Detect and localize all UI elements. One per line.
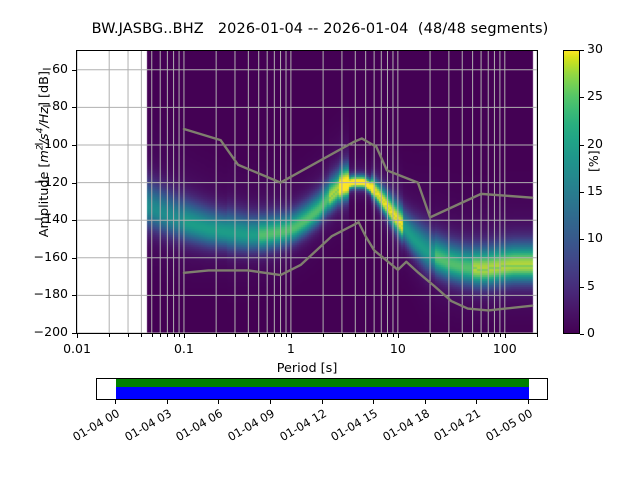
y-axis-tick-mark: [72, 333, 76, 334]
colorbar-tick-mark: [580, 334, 584, 335]
x-axis-minor-tick-mark: [462, 334, 463, 337]
colorbar-tick-mark: [580, 145, 584, 146]
x-axis-minor-tick-mark: [248, 334, 249, 337]
x-axis-minor-tick-mark: [494, 334, 495, 337]
y-axis-tick-label: −180: [0, 286, 68, 301]
coverage-band-green: [116, 379, 529, 387]
timeline-tick-mark: [373, 400, 374, 404]
x-axis-minor-tick-mark: [342, 334, 343, 337]
timeline-tick-label: 01-04 06: [168, 406, 225, 447]
x-axis-tick-label: 10: [358, 341, 438, 356]
timeline-tick-label: 01-04 18: [375, 406, 432, 447]
noise-model-nlnm: [184, 222, 532, 310]
y-axis-tick-label: −140: [0, 211, 68, 226]
coverage-band-blue: [116, 387, 529, 399]
colorbar-tick-label: 5: [587, 278, 595, 293]
y-axis-tick-label: −80: [0, 98, 68, 113]
timeline-tick-mark: [528, 400, 529, 404]
colorbar-tick-label: 25: [587, 88, 603, 103]
timeline-tick-label: 01-05 00: [478, 406, 535, 447]
data-coverage-timeline[interactable]: [96, 378, 548, 400]
y-axis-tick-mark: [72, 145, 76, 146]
y-axis-tick-mark: [72, 107, 76, 108]
x-axis-minor-tick-mark: [488, 334, 489, 337]
ppsd-figure: BW.JASBG..BHZ 2026-01-04 -- 2026-01-04 (…: [0, 0, 640, 480]
x-axis-minor-tick-mark: [281, 334, 282, 337]
noise-model-nhnm: [184, 129, 532, 217]
y-axis-tick-label: −120: [0, 174, 68, 189]
x-axis-label: Period [s]: [76, 361, 538, 376]
x-axis-tick-label: 0.01: [37, 341, 117, 356]
x-axis-tick-mark: [505, 334, 506, 338]
colorbar[interactable]: [563, 50, 580, 334]
y-axis-tick-mark: [72, 295, 76, 296]
colorbar-tick-label: 0: [587, 325, 595, 340]
x-axis-minor-tick-mark: [381, 334, 382, 337]
x-axis-minor-tick-mark: [274, 334, 275, 337]
y-axis-tick-label: −200: [0, 324, 68, 339]
y-axis-tick-mark: [72, 183, 76, 184]
timeline-tick-mark: [322, 400, 323, 404]
x-axis-minor-tick-mark: [160, 334, 161, 337]
x-axis-minor-tick-mark: [109, 334, 110, 337]
x-axis-minor-tick-mark: [235, 334, 236, 337]
x-axis-minor-tick-mark: [216, 334, 217, 337]
x-axis-minor-tick-mark: [355, 334, 356, 337]
colorbar-label: [%]: [586, 132, 601, 172]
x-axis-minor-tick-mark: [473, 334, 474, 337]
x-axis-minor-tick-mark: [167, 334, 168, 337]
y-axis-label: Amplitude [m2/s4/Hz] [dB]: [36, 24, 52, 284]
x-axis-tick-mark: [184, 334, 185, 338]
colorbar-tick-mark: [580, 239, 584, 240]
x-axis-minor-tick-mark: [387, 334, 388, 337]
y-axis-tick-label: −160: [0, 249, 68, 264]
x-axis-tick-label: 0.1: [144, 341, 224, 356]
x-axis-minor-tick-mark: [141, 334, 142, 337]
timeline-tick-mark: [476, 400, 477, 404]
x-axis-minor-tick-mark: [537, 334, 538, 337]
timeline-tick-mark: [218, 400, 219, 404]
x-axis-minor-tick-mark: [267, 334, 268, 337]
colorbar-tick-mark: [580, 192, 584, 193]
colorbar-tick-mark: [580, 97, 584, 98]
timeline-tick-label: 01-04 09: [220, 406, 277, 447]
x-axis-tick-mark: [398, 334, 399, 338]
x-axis-minor-tick-mark: [374, 334, 375, 337]
timeline-tick-mark: [167, 400, 168, 404]
timeline-tick-mark: [115, 400, 116, 404]
x-axis-minor-tick-mark: [430, 334, 431, 337]
x-axis-minor-tick-mark: [128, 334, 129, 337]
timeline-tick-label: 01-04 12: [271, 406, 328, 447]
timeline-tick-label: 01-04 00: [65, 406, 122, 447]
x-axis-minor-tick-mark: [449, 334, 450, 337]
x-axis-minor-tick-mark: [259, 334, 260, 337]
x-axis-minor-tick-mark: [481, 334, 482, 337]
x-axis-minor-tick-mark: [152, 334, 153, 337]
x-axis-minor-tick-mark: [393, 334, 394, 337]
y-axis-tick-label: −60: [0, 61, 68, 76]
x-axis-minor-tick-mark: [366, 334, 367, 337]
colorbar-tick-mark: [580, 287, 584, 288]
x-axis-minor-tick-mark: [286, 334, 287, 337]
x-axis-minor-tick-mark: [179, 334, 180, 337]
colorbar-tick-label: 10: [587, 230, 603, 245]
x-axis-tick-label: 1: [251, 341, 331, 356]
x-axis-minor-tick-mark: [323, 334, 324, 337]
colorbar-tick-label: 30: [587, 41, 603, 56]
ppsd-plot-area[interactable]: [76, 50, 538, 334]
y-axis-tick-mark: [72, 258, 76, 259]
colorbar-tick-label: 15: [587, 183, 603, 198]
timeline-tick-mark: [270, 400, 271, 404]
timeline-tick-label: 01-04 21: [426, 406, 483, 447]
y-axis-tick-label: −100: [0, 136, 68, 151]
timeline-tick-label: 01-04 03: [116, 406, 173, 447]
timeline-tick-label: 01-04 15: [323, 406, 380, 447]
x-axis-minor-tick-mark: [174, 334, 175, 337]
x-axis-tick-mark: [291, 334, 292, 338]
x-axis-minor-tick-mark: [500, 334, 501, 337]
y-axis-tick-mark: [72, 220, 76, 221]
x-axis-tick-mark: [77, 334, 78, 338]
noise-model-curves: [77, 51, 537, 333]
timeline-tick-mark: [425, 400, 426, 404]
x-axis-tick-label: 100: [465, 341, 545, 356]
page-title: BW.JASBG..BHZ 2026-01-04 -- 2026-01-04 (…: [0, 21, 640, 37]
y-axis-tick-mark: [72, 70, 76, 71]
colorbar-tick-mark: [580, 50, 584, 51]
